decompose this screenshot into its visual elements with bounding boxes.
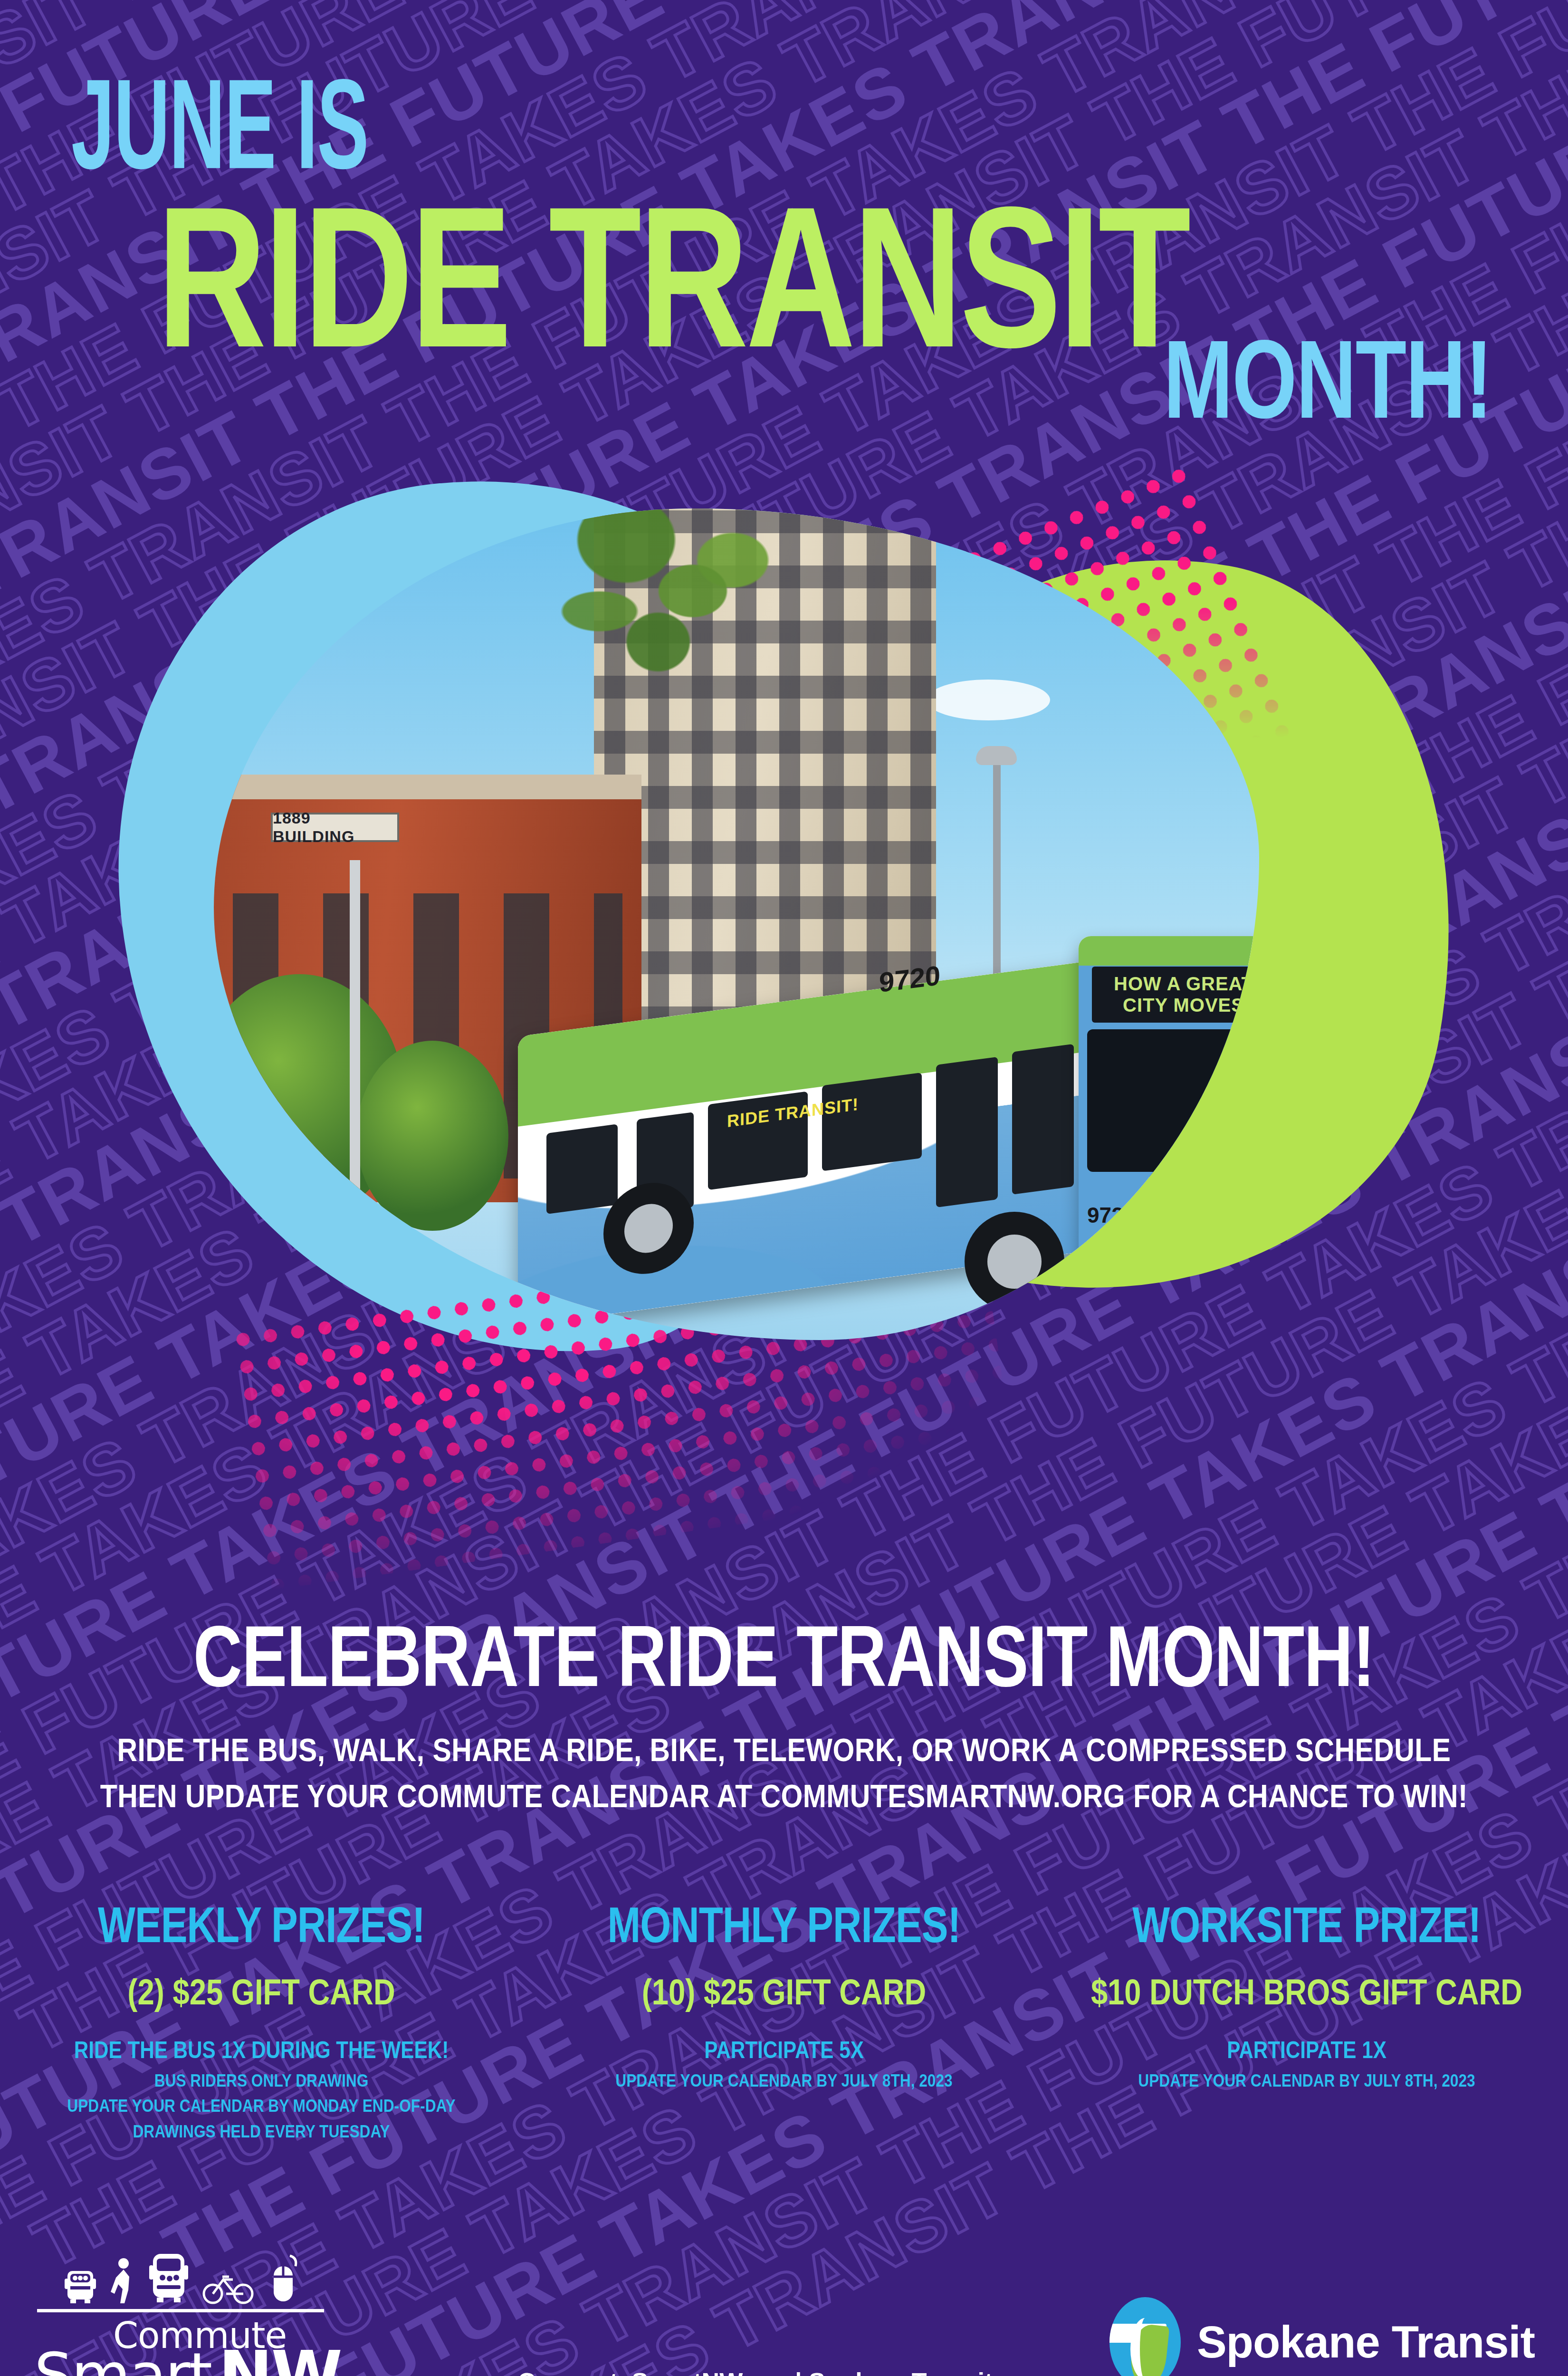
prize-title: MONTHLY PRIZES! <box>549 1896 1019 1954</box>
headline-line-month: MONTH! <box>1164 316 1492 443</box>
prize-notes: BUS RIDERS ONLY DRAWING UPDATE YOUR CALE… <box>24 2068 498 2145</box>
prize-requirement: RIDE THE BUS 1X DURING THE WEEK! <box>24 2037 498 2063</box>
prize-note-line: UPDATE YOUR CALENDAR BY JULY 8TH, 2023 <box>1070 2068 1544 2094</box>
mid-subline-1: RIDE THE BUS, WALK, SHARE A RIDE, BIKE, … <box>39 1731 1529 1768</box>
prize-title: WEEKLY PRIZES! <box>27 1896 496 1954</box>
hanging-tree-branch <box>546 508 813 703</box>
street-tree <box>356 1041 508 1231</box>
prize-column-monthly: MONTHLY PRIZES! (10) $25 GIFT CARD PARTI… <box>523 1896 1045 2137</box>
street-lamp-head <box>976 746 1017 765</box>
celebrate-heading: CELEBRATE RIDE TRANSIT MONTH! <box>47 1606 1521 1706</box>
commutesmart-word-smart: Smart <box>34 2340 211 2376</box>
commutesmart-wordmark: Commute Smart NW <box>33 2312 328 2376</box>
mid-subline-2: THEN UPDATE YOUR COMMUTE CALENDAR AT COM… <box>39 1777 1529 1814</box>
spokane-transit-mark-icon <box>1109 2297 1181 2376</box>
prize-title: WORKSITE PRIZE! <box>1072 1896 1541 1954</box>
commutesmart-nw-logo: Commute Smart NW <box>33 2247 328 2376</box>
prize-column-weekly: WEEKLY PRIZES! (2) $25 GIFT CARD RIDE TH… <box>0 1896 523 2137</box>
prizes-section: WEEKLY PRIZES! (2) $25 GIFT CARD RIDE TH… <box>0 1896 1568 2137</box>
prize-requirement: PARTICIPATE 5X <box>547 2037 1021 2063</box>
prize-notes: UPDATE YOUR CALENDAR BY JULY 8TH, 2023 <box>1070 2068 1544 2094</box>
photo-collage: 1889 BUILDING R <box>86 418 1501 1592</box>
prize-amount: (10) $25 GIFT CARD <box>547 1971 1021 2012</box>
prize-note-line: UPDATE YOUR CALENDAR BY JULY 8TH, 2023 <box>547 2068 1021 2094</box>
bicycle-icon <box>201 2270 255 2304</box>
mid-copy-block: CELEBRATE RIDE TRANSIT MONTH! RIDE THE B… <box>0 1606 1568 1811</box>
prize-amount: $10 DUTCH BROS GIFT CARD <box>1070 1971 1544 2012</box>
prize-note-line: BUS RIDERS ONLY DRAWING <box>24 2068 498 2094</box>
bus-icon <box>148 2251 189 2304</box>
building-name-sign: 1889 BUILDING <box>271 813 399 842</box>
spokane-transit-logo: Spokane Transit <box>1109 2297 1535 2376</box>
commutesmart-divider-rule <box>37 2309 324 2312</box>
prize-column-worksite: WORKSITE PRIZE! $10 DUTCH BROS GIFT CARD… <box>1045 1896 1568 2137</box>
commutesmart-word-nw: NW <box>219 2337 341 2376</box>
prize-note-line: UPDATE YOUR CALENDAR BY MONDAY END-OF-DA… <box>24 2094 498 2119</box>
prize-note-line: DRAWINGS HELD EVERY TUESDAY <box>24 2119 498 2145</box>
pedestrian-icon <box>110 2258 136 2304</box>
headline-line-ride-transit: RIDE TRANSIT <box>157 162 1188 393</box>
computer-mouse-icon <box>267 2254 298 2304</box>
footer-urls[interactable]: CommuteSmartNW.org | SpokaneTransit.com <box>517 2367 1050 2376</box>
bus-destination-sign: HOW A GREAT CITY MOVES <box>1092 967 1259 1023</box>
prize-notes: UPDATE YOUR CALENDAR BY JULY 8TH, 2023 <box>547 2068 1021 2094</box>
commutesmart-icon-row <box>33 2247 328 2304</box>
spokane-transit-wordmark: Spokane Transit <box>1197 2317 1535 2368</box>
footer: Commute Smart NW CommuteSmartNW.org | Sp… <box>0 2214 1568 2376</box>
prize-amount: (2) $25 GIFT CARD <box>24 1971 498 2012</box>
bus-front-wheel <box>965 1212 1064 1312</box>
signal-pole <box>350 860 360 1221</box>
poster-root: THE FUTURE TAKES TRANSIT THE FUTURE TAKE… <box>0 0 1568 2376</box>
prize-requirement: PARTICIPATE 1X <box>1070 2037 1544 2063</box>
car-icon <box>63 2264 98 2304</box>
